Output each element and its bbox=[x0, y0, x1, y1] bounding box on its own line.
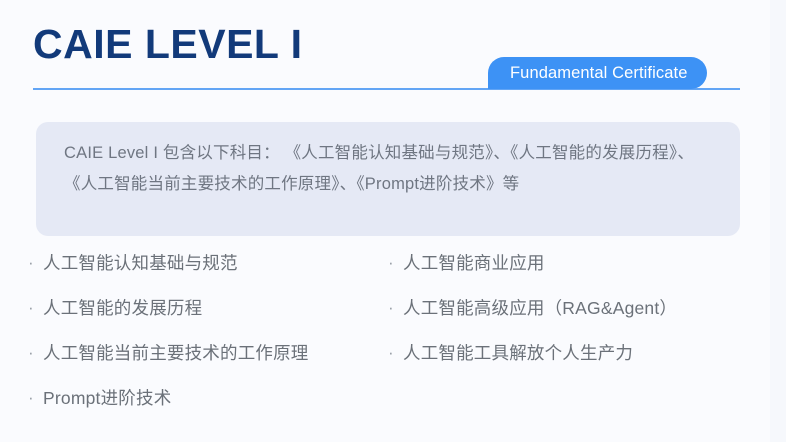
bullet-icon: · bbox=[28, 249, 43, 277]
subject-label: Prompt进阶技术 bbox=[43, 384, 171, 412]
bullet-icon: · bbox=[28, 384, 43, 412]
subject-list: · 人工智能认知基础与规范 · 人工智能的发展历程 · 人工智能当前主要技术的工… bbox=[0, 249, 770, 434]
subject-label: 人工智能高级应用（RAG&Agent） bbox=[403, 294, 677, 322]
subject-column-left: · 人工智能认知基础与规范 · 人工智能的发展历程 · 人工智能当前主要技术的工… bbox=[28, 249, 388, 429]
bullet-icon: · bbox=[388, 294, 403, 322]
subject-label: 人工智能工具解放个人生产力 bbox=[403, 339, 633, 367]
bullet-icon: · bbox=[388, 249, 403, 277]
bullet-icon: · bbox=[388, 339, 403, 367]
list-item: · 人工智能的发展历程 bbox=[28, 294, 388, 339]
header: CAIE LEVEL I Fundamental Certificate bbox=[0, 0, 770, 96]
list-item: · 人工智能工具解放个人生产力 bbox=[388, 339, 758, 384]
list-item: · 人工智能商业应用 bbox=[388, 249, 758, 294]
description-card: CAIE Level I 包含以下科目： 《人工智能认知基础与规范》、《人工智能… bbox=[36, 122, 740, 236]
right-gutter bbox=[770, 0, 786, 442]
list-item: · Prompt进阶技术 bbox=[28, 384, 388, 429]
list-item: · 人工智能高级应用（RAG&Agent） bbox=[388, 294, 758, 339]
subject-column-right: · 人工智能商业应用 · 人工智能高级应用（RAG&Agent） · 人工智能工… bbox=[388, 249, 758, 384]
subject-label: 人工智能当前主要技术的工作原理 bbox=[43, 339, 309, 367]
certificate-badge-label: Fundamental Certificate bbox=[510, 64, 687, 83]
list-item: · 人工智能当前主要技术的工作原理 bbox=[28, 339, 388, 384]
list-item: · 人工智能认知基础与规范 bbox=[28, 249, 388, 294]
subject-label: 人工智能的发展历程 bbox=[43, 294, 202, 322]
slide-root: CAIE LEVEL I Fundamental Certificate CAI… bbox=[0, 0, 786, 442]
page-title: CAIE LEVEL I bbox=[33, 24, 303, 65]
description-text: CAIE Level I 包含以下科目： 《人工智能认知基础与规范》、《人工智能… bbox=[64, 138, 714, 200]
bullet-icon: · bbox=[28, 339, 43, 367]
subject-label: 人工智能认知基础与规范 bbox=[43, 249, 238, 277]
subject-label: 人工智能商业应用 bbox=[403, 249, 545, 277]
bullet-icon: · bbox=[28, 294, 43, 322]
certificate-badge[interactable]: Fundamental Certificate bbox=[488, 57, 707, 89]
